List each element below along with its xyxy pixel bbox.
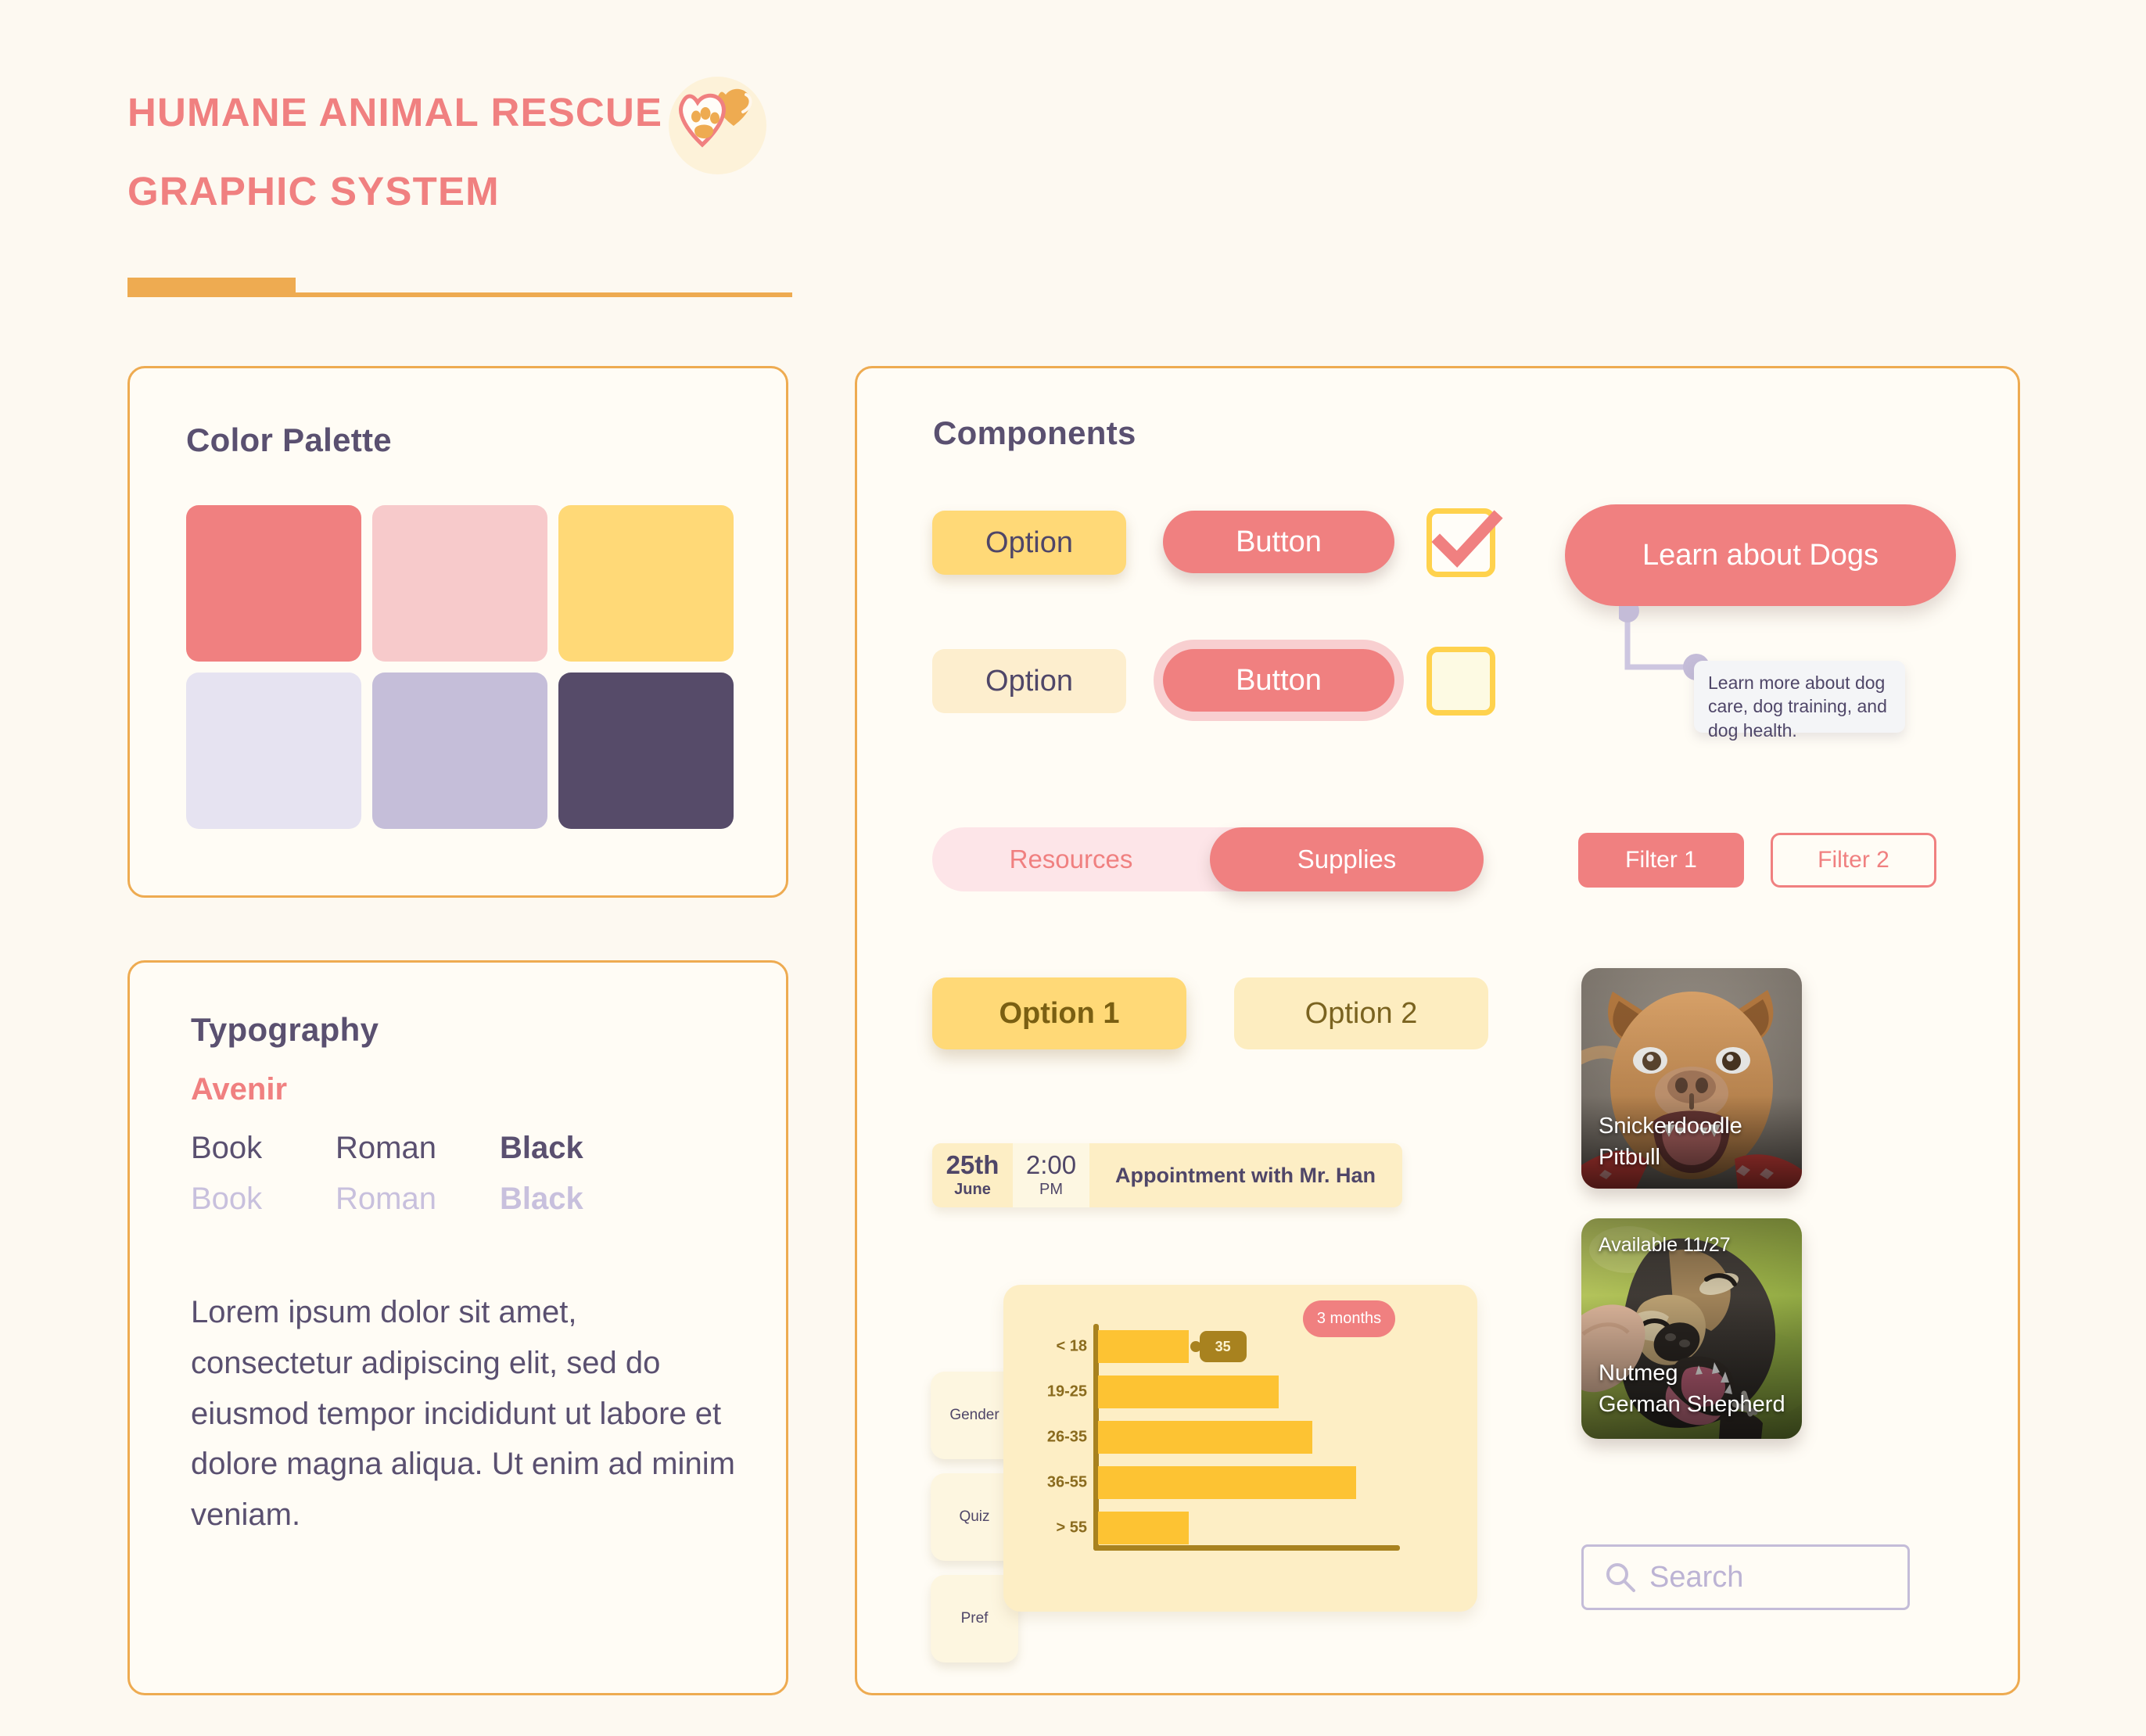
dog-card[interactable]: Available 11/27 Nutmeg German Shepherd (1581, 1218, 1802, 1439)
appointment-day: 25th (946, 1152, 999, 1179)
typography-card: Typography Avenir Book Roman Black Book … (127, 960, 788, 1695)
chart-category-label: < 18 (1057, 1338, 1087, 1356)
swatch-lavender-white[interactable] (186, 673, 361, 829)
filter-chip-2[interactable]: Filter 2 (1771, 833, 1936, 888)
page-title-line-1: HUMANE ANIMAL RESCUE (127, 92, 988, 132)
segment-resources[interactable]: Resources (932, 827, 1210, 891)
segmented-control[interactable]: Resources Supplies (932, 827, 1484, 891)
page-title-line-2: GRAPHIC SYSTEM (127, 171, 988, 211)
bar-chart-plot: < 1819-2526-3536-55> 55 35 (1098, 1324, 1442, 1574)
checkbox-checked[interactable] (1426, 508, 1495, 577)
dog-card[interactable]: Snickerdoodle Pitbull (1581, 968, 1802, 1189)
font-family-name: Avenir (191, 1072, 738, 1107)
search-placeholder-text: Search (1649, 1561, 1743, 1594)
tab-option-1[interactable]: Option 1 (932, 977, 1186, 1049)
dog-availability-badge: Available 11/27 (1599, 1234, 1731, 1257)
dog-name: Snickerdoodle (1599, 1114, 1742, 1139)
segment-supplies[interactable]: Supplies (1210, 827, 1484, 891)
progress-fill (127, 278, 296, 297)
chart-x-axis (1093, 1545, 1400, 1551)
filter-chip-1[interactable]: Filter 1 (1578, 833, 1744, 888)
search-input[interactable]: Search (1581, 1544, 1910, 1610)
weight-black: Black (500, 1131, 583, 1166)
pill-button-default[interactable]: Button (1163, 511, 1394, 573)
header-progress-bar (127, 278, 792, 301)
weight-book: Book (191, 1131, 336, 1166)
weight-roman: Roman (336, 1131, 500, 1166)
dog-name: Nutmeg (1599, 1361, 1678, 1386)
font-weights-row: Book Roman Black (191, 1131, 738, 1166)
appointment-date: 25th June (932, 1143, 1013, 1207)
paw-heart-logo-icon (674, 82, 762, 168)
appointment-month: June (954, 1181, 991, 1199)
tooltip-content: Learn more about dog care, dog training,… (1694, 661, 1905, 733)
tab-option-2[interactable]: Option 2 (1234, 977, 1488, 1049)
chart-category-label: > 55 (1057, 1519, 1087, 1537)
design-system-page: HUMANE ANIMAL RESCUE GRAPHIC SYSTEM Colo… (0, 0, 2146, 1736)
weight-roman-muted: Roman (336, 1182, 500, 1217)
chart-tooltip-value: 35 (1200, 1331, 1247, 1362)
swatch-yellow[interactable] (558, 505, 734, 662)
dog-breed: German Shepherd (1599, 1392, 1785, 1418)
search-icon (1604, 1561, 1637, 1594)
typography-body: Avenir Book Roman Black Book Roman Black… (191, 1072, 738, 1541)
swatch-light-pink[interactable] (372, 505, 547, 662)
chart-category-label: 19-25 (1047, 1383, 1087, 1401)
appointment-time: 2:00 PM (1013, 1143, 1089, 1207)
swatch-coral[interactable] (186, 505, 361, 662)
swatch-dark-purple[interactable] (558, 673, 734, 829)
swatch-light-purple[interactable] (372, 673, 547, 829)
chart-bar[interactable] (1098, 1466, 1356, 1500)
chart-bar[interactable] (1098, 1512, 1189, 1545)
option-chip-active[interactable]: Option (932, 511, 1126, 575)
palette-title: Color Palette (186, 421, 392, 459)
swatch-grid (186, 505, 734, 829)
appointment-row[interactable]: 25th June 2:00 PM Appointment with Mr. H… (932, 1143, 1402, 1207)
weight-black-muted: Black (500, 1182, 583, 1217)
chart-bar[interactable] (1098, 1330, 1189, 1364)
typography-title: Typography (191, 1011, 379, 1049)
chart-category-label: 36-55 (1047, 1474, 1087, 1492)
appointment-label: Appointment with Mr. Han (1089, 1143, 1402, 1207)
color-palette-card: Color Palette (127, 366, 788, 898)
dog-breed: Pitbull (1599, 1145, 1660, 1171)
chart-bar[interactable] (1098, 1421, 1312, 1454)
appointment-hour: 2:00 (1026, 1152, 1076, 1179)
pill-button-focused[interactable]: Button (1163, 649, 1394, 712)
weight-book-muted: Book (191, 1182, 336, 1217)
checkbox-unchecked[interactable] (1426, 647, 1495, 716)
option-chip-inactive[interactable]: Option (932, 649, 1126, 713)
components-title: Components (933, 414, 1136, 452)
appointment-meridiem: PM (1039, 1181, 1063, 1199)
type-specimen-paragraph: Lorem ipsum dolor sit amet, consectetur … (191, 1287, 738, 1541)
chart-category-label: 26-35 (1047, 1429, 1087, 1447)
font-weights-row-muted: Book Roman Black (191, 1182, 738, 1217)
chart-bar[interactable] (1098, 1376, 1279, 1409)
learn-about-dogs-button[interactable]: Learn about Dogs (1565, 504, 1956, 606)
page-header: HUMANE ANIMAL RESCUE GRAPHIC SYSTEM (127, 92, 988, 211)
checkmark-icon (1429, 503, 1504, 578)
